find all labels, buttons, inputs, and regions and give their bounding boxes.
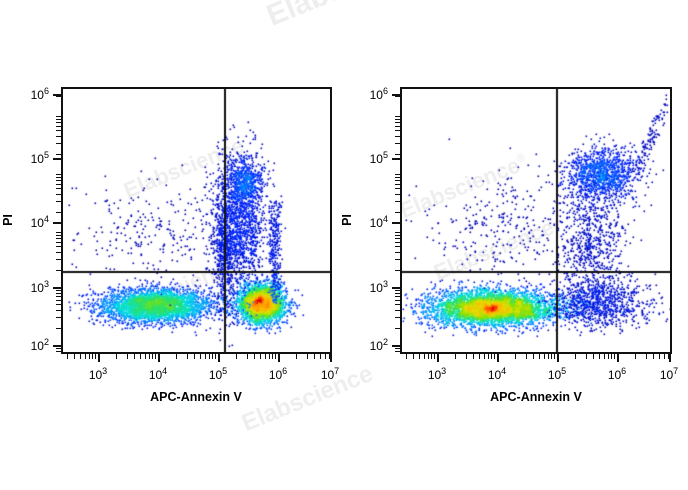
x-tick-major	[557, 354, 559, 362]
x-tick-minor	[74, 354, 75, 359]
y-tick-minor	[56, 174, 61, 175]
x-tick-minor	[515, 354, 516, 359]
y-tick-label-base: 10	[370, 152, 383, 166]
x-tick-minor	[611, 354, 612, 359]
x-tick-label-exponent: 4	[162, 366, 167, 376]
x-tick-minor	[140, 354, 141, 359]
x-tick-minor	[431, 354, 432, 359]
y-tick-minor	[56, 143, 61, 144]
y-tick-minor	[56, 310, 61, 311]
y-tick-minor	[56, 304, 61, 305]
y-tick-minor	[56, 242, 61, 243]
y-tick-minor	[395, 270, 400, 271]
y-tick-minor	[56, 300, 61, 301]
y-tick-label: 104	[15, 214, 49, 230]
watermark-text: Elabscience	[262, 0, 435, 33]
y-tick-label-exponent: 3	[383, 279, 388, 289]
y-tick-minor	[56, 188, 61, 189]
x-tick-label-exponent: 7	[673, 366, 678, 376]
y-tick-minor	[395, 259, 400, 260]
y-tick-minor	[56, 328, 61, 329]
x-tick-minor	[85, 354, 86, 359]
y-tick-label: 103	[15, 279, 49, 295]
plot-frame-left	[61, 87, 332, 354]
x-tick-minor	[134, 354, 135, 359]
y-tick-label: 105	[15, 150, 49, 166]
x-tick-minor	[200, 354, 201, 359]
y-tick-minor	[395, 116, 400, 117]
x-tick-minor	[614, 354, 615, 359]
x-tick-minor	[275, 354, 276, 359]
x-tick-major	[617, 354, 619, 362]
y-tick-minor	[395, 246, 400, 247]
x-tick-minor	[67, 354, 68, 359]
x-tick-label-exponent: 5	[561, 366, 566, 376]
x-tick-minor	[215, 354, 216, 359]
y-tick-label-exponent: 4	[383, 214, 388, 224]
x-tick-minor	[593, 354, 594, 359]
y-tick-minor	[56, 317, 61, 318]
y-tick-label: 102	[15, 337, 49, 353]
x-tick-label-exponent: 5	[222, 366, 227, 376]
x-tick-minor	[551, 354, 552, 359]
y-tick-minor	[56, 119, 61, 120]
y-tick-minor	[56, 154, 61, 155]
y-tick-minor	[56, 96, 61, 97]
scatter-panel-right	[400, 87, 672, 354]
y-tick-label: 102	[354, 337, 388, 353]
y-tick-minor	[395, 126, 400, 127]
x-tick-minor	[484, 354, 485, 359]
y-tick-minor	[395, 238, 400, 239]
x-tick-minor	[209, 354, 210, 359]
y-tick-minor	[395, 317, 400, 318]
y-tick-minor	[395, 242, 400, 243]
y-tick-minor	[395, 177, 400, 178]
x-tick-major	[437, 354, 439, 362]
x-tick-major	[497, 354, 499, 362]
x-tick-minor	[92, 354, 93, 359]
plot-frame-right	[400, 87, 672, 354]
y-tick-major	[392, 222, 400, 224]
x-tick-minor	[145, 354, 146, 359]
x-tick-major	[669, 354, 671, 362]
x-tick-minor	[236, 354, 237, 359]
x-tick-label-base: 10	[209, 368, 222, 382]
x-tick-minor	[127, 354, 128, 359]
x-tick-minor	[479, 354, 480, 359]
y-tick-major	[392, 158, 400, 160]
x-tick-minor	[494, 354, 495, 359]
x-tick-minor	[526, 354, 527, 359]
y-tick-minor	[395, 122, 400, 123]
x-tick-minor	[187, 354, 188, 359]
x-tick-minor	[488, 354, 489, 359]
y-tick-minor	[56, 201, 61, 202]
x-tick-minor	[434, 354, 435, 359]
x-tick-minor	[269, 354, 270, 359]
x-tick-label: 106	[608, 366, 626, 382]
x-tick-minor	[80, 354, 81, 359]
y-tick-minor	[395, 136, 400, 137]
x-tick-minor	[314, 354, 315, 359]
y-tick-minor	[395, 96, 400, 97]
x-tick-minor	[194, 354, 195, 359]
x-tick-label: 103	[89, 366, 107, 382]
y-tick-minor	[56, 238, 61, 239]
y-tick-label-base: 10	[31, 339, 44, 353]
x-tick-minor	[664, 354, 665, 359]
y-tick-minor	[395, 174, 400, 175]
x-tick-minor	[608, 354, 609, 359]
y-tick-label-base: 10	[31, 216, 44, 230]
y-tick-minor	[56, 212, 61, 213]
x-axis-title-left: APC-Annexin V	[150, 390, 242, 404]
y-tick-minor	[395, 300, 400, 301]
x-tick-minor	[247, 354, 248, 359]
y-tick-minor	[395, 293, 400, 294]
x-tick-minor	[544, 354, 545, 359]
x-tick-minor	[176, 354, 177, 359]
y-tick-label-base: 10	[370, 339, 383, 353]
y-tick-minor	[56, 184, 61, 185]
figure-canvas: Elabscience® Elabscience Elabscience Ela…	[0, 0, 688, 490]
y-tick-minor	[56, 348, 61, 349]
x-tick-label-exponent: 7	[334, 366, 339, 376]
y-tick-minor	[395, 119, 400, 120]
y-tick-minor	[395, 188, 400, 189]
x-tick-minor	[659, 354, 660, 359]
x-tick-label: 103	[428, 366, 446, 382]
y-tick-minor	[56, 296, 61, 297]
y-tick-label-exponent: 5	[44, 150, 49, 160]
y-tick-minor	[395, 184, 400, 185]
y-tick-label-exponent: 2	[44, 337, 49, 347]
x-tick-minor	[320, 354, 321, 359]
y-tick-label: 104	[354, 214, 388, 230]
watermark-top: Elabscience®	[262, 0, 447, 34]
y-axis-title-right: PI	[340, 214, 354, 226]
y-tick-label-exponent: 2	[383, 337, 388, 347]
y-tick-label-base: 10	[31, 281, 44, 295]
x-tick-minor	[413, 354, 414, 359]
x-tick-label-exponent: 6	[282, 366, 287, 376]
y-tick-label: 106	[354, 86, 388, 102]
x-tick-minor	[646, 354, 647, 359]
x-tick-minor	[575, 354, 576, 359]
y-tick-minor	[395, 154, 400, 155]
y-tick-minor	[395, 252, 400, 253]
y-tick-label-base: 10	[370, 216, 383, 230]
x-tick-label: 106	[269, 366, 287, 382]
y-tick-minor	[395, 194, 400, 195]
x-tick-major	[278, 354, 280, 362]
x-tick-minor	[95, 354, 96, 359]
x-tick-minor	[604, 354, 605, 359]
x-tick-minor	[307, 354, 308, 359]
y-tick-minor	[56, 232, 61, 233]
y-tick-label-exponent: 6	[44, 86, 49, 96]
y-tick-minor	[56, 116, 61, 117]
y-tick-minor	[395, 290, 400, 291]
x-tick-label-exponent: 3	[441, 366, 446, 376]
x-tick-label-base: 10	[488, 368, 501, 382]
y-tick-label-exponent: 6	[383, 86, 388, 96]
x-tick-minor	[296, 354, 297, 359]
x-tick-minor	[265, 354, 266, 359]
watermark-text: Elabscience	[238, 360, 377, 437]
scatter-panel-left	[61, 87, 332, 354]
y-tick-minor	[56, 177, 61, 178]
x-tick-minor	[533, 354, 534, 359]
x-tick-label-base: 10	[660, 368, 673, 382]
y-tick-minor	[395, 328, 400, 329]
y-tick-label-base: 10	[31, 88, 44, 102]
y-tick-minor	[56, 252, 61, 253]
x-tick-label-base: 10	[321, 368, 334, 382]
y-tick-major	[53, 158, 61, 160]
y-tick-minor	[56, 259, 61, 260]
y-tick-minor	[56, 270, 61, 271]
x-tick-major	[158, 354, 160, 362]
x-tick-label-base: 10	[608, 368, 621, 382]
x-tick-minor	[152, 354, 153, 359]
x-tick-label-base: 10	[149, 368, 162, 382]
x-tick-minor	[406, 354, 407, 359]
x-tick-minor	[653, 354, 654, 359]
x-tick-label-exponent: 3	[102, 366, 107, 376]
y-tick-label: 103	[354, 279, 388, 295]
x-tick-minor	[554, 354, 555, 359]
x-tick-label: 107	[660, 366, 678, 382]
y-tick-minor	[56, 180, 61, 181]
y-tick-minor	[56, 122, 61, 123]
y-tick-minor	[395, 304, 400, 305]
y-tick-minor	[56, 290, 61, 291]
y-tick-label-exponent: 5	[383, 150, 388, 160]
y-tick-minor	[395, 130, 400, 131]
y-tick-label-base: 10	[31, 152, 44, 166]
x-tick-minor	[586, 354, 587, 359]
x-tick-minor	[548, 354, 549, 359]
x-tick-minor	[149, 354, 150, 359]
x-tick-label-base: 10	[89, 368, 102, 382]
x-tick-major	[98, 354, 100, 362]
x-tick-label-exponent: 6	[621, 366, 626, 376]
y-tick-minor	[395, 180, 400, 181]
y-tick-minor	[395, 201, 400, 202]
x-tick-label: 107	[321, 366, 339, 382]
y-tick-minor	[56, 246, 61, 247]
y-tick-minor	[395, 235, 400, 236]
y-tick-label-exponent: 3	[44, 279, 49, 289]
y-tick-label-base: 10	[370, 88, 383, 102]
y-tick-minor	[56, 136, 61, 137]
x-tick-label: 105	[209, 366, 227, 382]
x-tick-minor	[466, 354, 467, 359]
x-tick-major	[330, 354, 332, 362]
x-tick-label: 104	[149, 366, 167, 382]
x-tick-minor	[668, 354, 669, 359]
x-tick-minor	[155, 354, 156, 359]
x-tick-minor	[473, 354, 474, 359]
y-tick-minor	[56, 194, 61, 195]
x-tick-minor	[455, 354, 456, 359]
x-tick-minor	[116, 354, 117, 359]
y-tick-minor	[395, 143, 400, 144]
y-tick-minor	[395, 296, 400, 297]
y-tick-minor	[395, 351, 400, 352]
x-tick-minor	[272, 354, 273, 359]
x-tick-major	[218, 354, 220, 362]
x-tick-minor	[260, 354, 261, 359]
x-tick-label-base: 10	[428, 368, 441, 382]
x-tick-minor	[419, 354, 420, 359]
y-tick-minor	[395, 348, 400, 349]
x-tick-minor	[89, 354, 90, 359]
x-tick-minor	[491, 354, 492, 359]
watermark-bottom: Elabscience	[238, 360, 377, 438]
x-tick-label-base: 10	[269, 368, 282, 382]
x-tick-label: 105	[548, 366, 566, 382]
y-tick-minor	[56, 351, 61, 352]
x-tick-label-exponent: 4	[501, 366, 506, 376]
x-tick-minor	[212, 354, 213, 359]
x-tick-label: 104	[488, 366, 506, 382]
x-tick-minor	[254, 354, 255, 359]
x-tick-minor	[325, 354, 326, 359]
x-tick-minor	[539, 354, 540, 359]
x-tick-label-base: 10	[548, 368, 561, 382]
y-tick-label-exponent: 4	[44, 214, 49, 224]
y-tick-minor	[395, 232, 400, 233]
y-tick-minor	[56, 130, 61, 131]
x-tick-minor	[329, 354, 330, 359]
x-tick-minor	[635, 354, 636, 359]
y-tick-label: 105	[354, 150, 388, 166]
y-tick-major	[53, 222, 61, 224]
x-tick-minor	[205, 354, 206, 359]
y-tick-minor	[56, 293, 61, 294]
y-tick-minor	[56, 126, 61, 127]
x-tick-minor	[428, 354, 429, 359]
y-tick-minor	[395, 212, 400, 213]
y-tick-minor	[56, 235, 61, 236]
x-axis-title-right: APC-Annexin V	[490, 390, 582, 404]
x-tick-minor	[424, 354, 425, 359]
y-axis-title-left: PI	[1, 214, 15, 226]
y-tick-minor	[395, 310, 400, 311]
y-tick-label: 106	[15, 86, 49, 102]
y-tick-label-base: 10	[370, 281, 383, 295]
x-tick-minor	[599, 354, 600, 359]
